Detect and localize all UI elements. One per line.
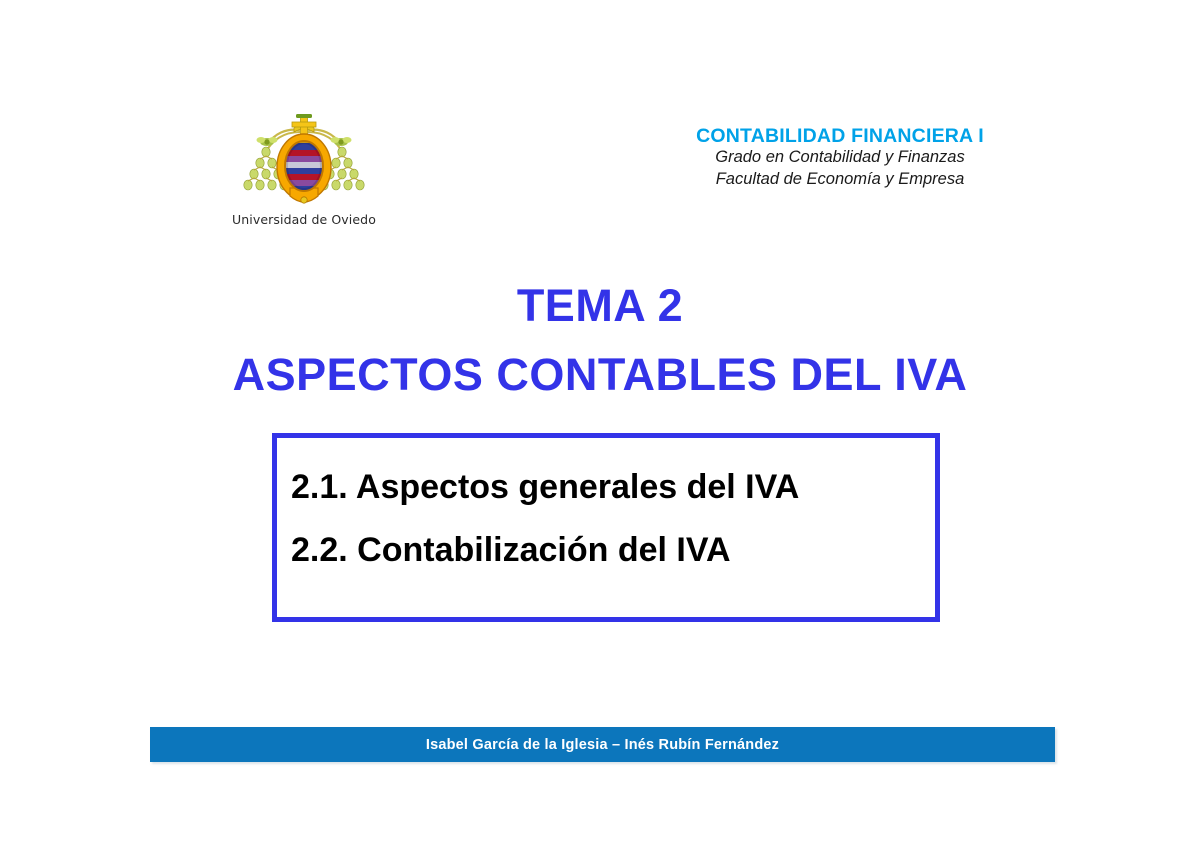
course-header: CONTABILIDAD FINANCIERA I Grado en Conta… — [600, 126, 1080, 191]
footer-bar: Isabel García de la Iglesia – Inés Rubín… — [150, 727, 1055, 762]
authors-label: Isabel García de la Iglesia – Inés Rubín… — [426, 737, 779, 753]
topic-number-title: TEMA 2 — [0, 283, 1200, 328]
university-of-oviedo-crest-icon — [228, 112, 380, 210]
university-logo: Universidad de Oviedo — [228, 112, 380, 227]
topic-name-title: ASPECTOS CONTABLES DEL IVA — [0, 352, 1200, 397]
university-name-label: Universidad de Oviedo — [228, 212, 380, 227]
list-item: 2.2. Contabilización del IVA — [291, 533, 925, 567]
topic-contents-list: 2.1. Aspectos generales del IVA 2.2. Con… — [291, 470, 925, 567]
slide-canvas: Universidad de Oviedo CONTABILIDAD FINAN… — [0, 0, 1200, 849]
faculty-label: Facultad de Economía y Empresa — [600, 169, 1080, 191]
course-title: CONTABILIDAD FINANCIERA I — [600, 126, 1080, 147]
degree-label: Grado en Contabilidad y Finanzas — [600, 147, 1080, 169]
list-item: 2.1. Aspectos generales del IVA — [291, 470, 925, 504]
topic-contents-box: 2.1. Aspectos generales del IVA 2.2. Con… — [272, 433, 940, 622]
